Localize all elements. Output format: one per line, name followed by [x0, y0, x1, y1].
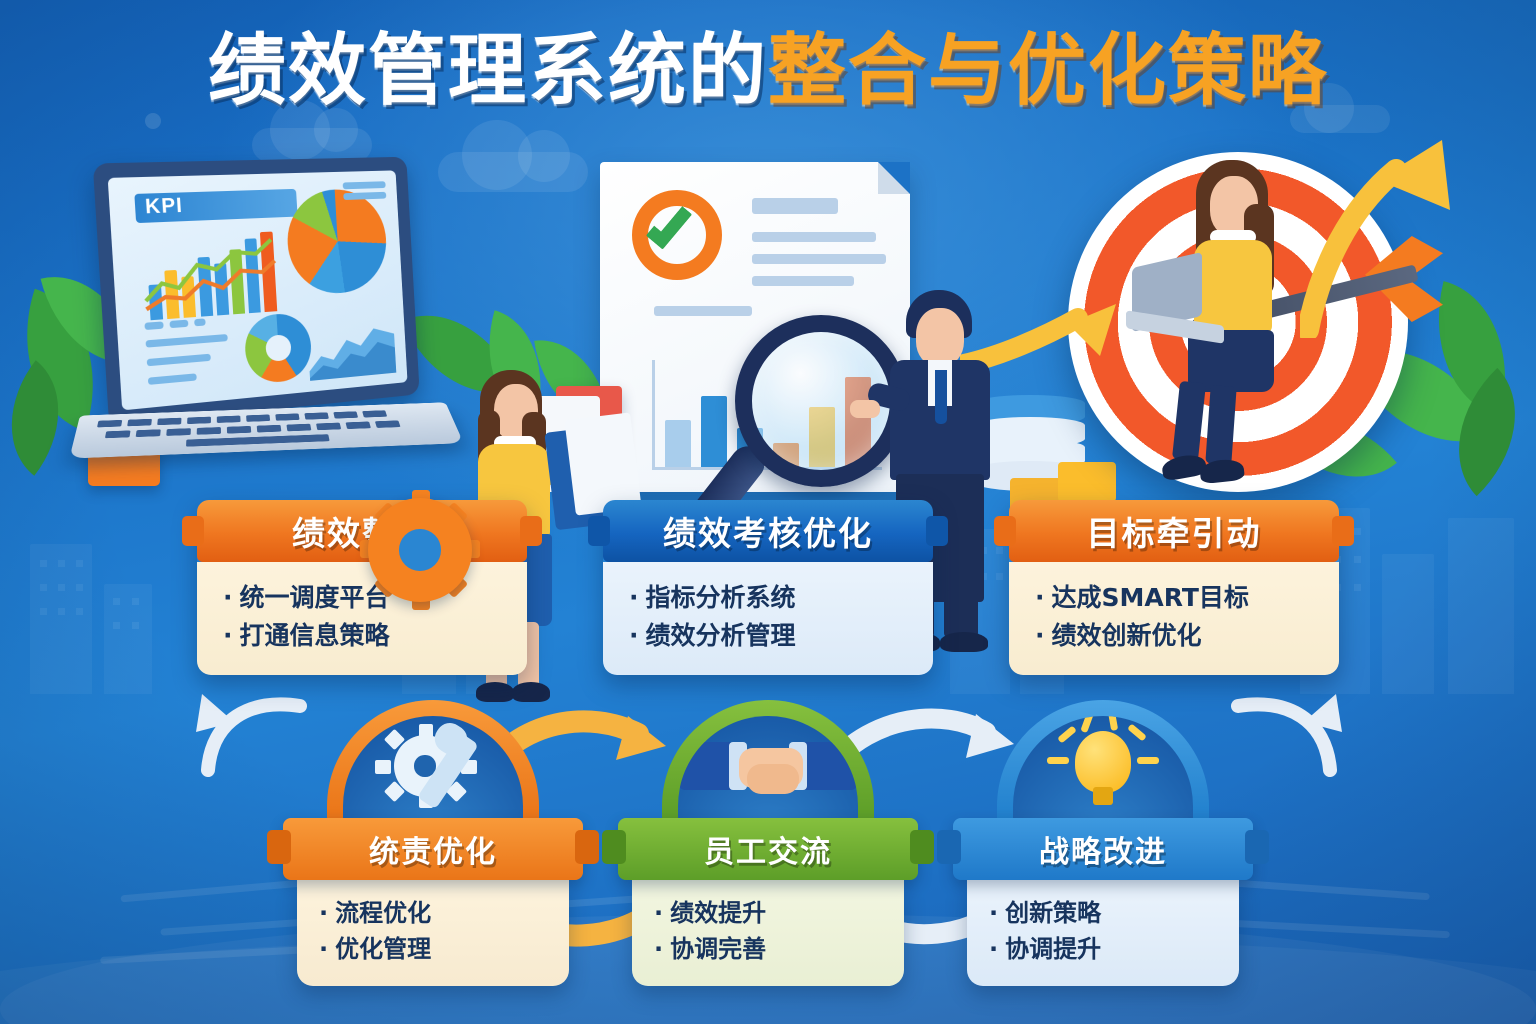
title-white-text: 绩效管理系统的	[208, 26, 768, 116]
area-chart-icon	[307, 315, 397, 380]
bcard-employee-communication[interactable]: 员工交流 ·绩效提升 ·协调完善	[618, 700, 918, 986]
gear-decoration-icon	[368, 498, 472, 602]
donut-chart-icon	[244, 312, 313, 385]
card-arch	[327, 700, 539, 818]
woman-laptop-on-target-icon	[1168, 160, 1318, 430]
page-title: 绩效管理系统的整合与优化策略	[0, 30, 1536, 113]
bcard-bullet: ·流程优化	[319, 895, 559, 931]
bullet-text: 优化管理	[335, 935, 431, 963]
bcard-title: 统责优化	[369, 827, 497, 871]
bcard-bullet: ·绩效提升	[654, 895, 894, 931]
card-goal-alignment[interactable]: 目标牵引动 ·达成SMART目标 ·绩效创新优化	[1009, 500, 1339, 675]
bcard-title: 员工交流	[704, 827, 832, 871]
top-cards-row: 绩效整合 ·统一调度平台 ·打通信息策略 绩效考核优化 ·指标分析系统 ·绩效分…	[0, 500, 1536, 675]
bcard-process-optimization[interactable]: 统责优化 ·流程优化 ·优化管理	[283, 700, 583, 986]
bullet-dot-icon: ·	[654, 935, 663, 963]
bullet-dot-icon: ·	[223, 621, 233, 650]
bullet-text: 创新策略	[1005, 899, 1101, 927]
card-title: 绩效考核优化	[663, 507, 873, 555]
bullet-dot-icon: ·	[223, 583, 233, 612]
bcard-body: ·创新策略 ·协调提升	[967, 880, 1239, 986]
bullet-text: 协调提升	[1005, 935, 1101, 963]
bullet-text: 统一调度平台	[240, 583, 390, 612]
bullet-dot-icon: ·	[319, 899, 328, 927]
bullet-text: 绩效提升	[670, 899, 766, 927]
bcard-bullet: ·协调完善	[654, 931, 894, 967]
card-body: ·指标分析系统 ·绩效分析管理	[603, 562, 933, 675]
bcard-title-band: 战略改进	[953, 818, 1253, 880]
bullet-dot-icon: ·	[989, 935, 998, 963]
bullet-dot-icon: ·	[319, 935, 328, 963]
bcard-body: ·流程优化 ·优化管理	[297, 880, 569, 986]
pie-chart-icon	[285, 188, 389, 296]
bullet-text: 流程优化	[335, 899, 431, 927]
bullet-text: 打通信息策略	[240, 621, 390, 650]
bcard-bullet: ·创新策略	[989, 895, 1229, 931]
lightbulb-icon	[1013, 716, 1193, 818]
bullet-dot-icon: ·	[989, 899, 998, 927]
bullet-dot-icon: ·	[629, 583, 639, 612]
bullet-dot-icon: ·	[1035, 583, 1045, 612]
bcard-title-band: 员工交流	[618, 818, 918, 880]
card-body: ·达成SMART目标 ·绩效创新优化	[1009, 562, 1339, 675]
card-bullet: ·指标分析系统	[629, 579, 919, 617]
bullet-text: 协调完善	[670, 935, 766, 963]
card-body: ·统一调度平台 ·打通信息策略	[197, 562, 527, 675]
bcard-title: 战略改进	[1039, 827, 1167, 871]
bcard-title-band: 统责优化	[283, 818, 583, 880]
bullet-text: 达成SMART目标	[1052, 583, 1249, 612]
growth-arrow-up-icon	[1300, 118, 1450, 338]
card-header: 目标牵引动	[1009, 500, 1339, 562]
bullet-dot-icon: ·	[654, 899, 663, 927]
title-orange-text: 整合与优化策略	[768, 26, 1328, 116]
card-bullet: ·达成SMART目标	[1035, 579, 1325, 617]
card-arch	[997, 700, 1209, 818]
bottom-cards-row: 统责优化 ·流程优化 ·优化管理	[0, 700, 1536, 986]
bcard-bullet: ·协调提升	[989, 931, 1229, 967]
card-bullet: ·打通信息策略	[223, 617, 513, 655]
card-header: 绩效考核优化	[603, 500, 933, 562]
card-assessment-optimization[interactable]: 绩效考核优化 ·指标分析系统 ·绩效分析管理	[603, 500, 933, 675]
bcard-bullet: ·优化管理	[319, 931, 559, 967]
card-performance-integration[interactable]: 绩效整合 ·统一调度平台 ·打通信息策略	[197, 500, 527, 675]
bullet-dot-icon: ·	[1035, 621, 1045, 650]
kpi-label: KPI	[134, 188, 298, 223]
bcard-body: ·绩效提升 ·协调完善	[632, 880, 904, 986]
bullet-dot-icon: ·	[629, 621, 639, 650]
puzzle-piece-icon	[1058, 462, 1116, 502]
card-arch	[662, 700, 874, 818]
handshake-icon	[678, 716, 858, 818]
card-title: 目标牵引动	[1087, 507, 1262, 555]
bcard-strategy-innovation[interactable]: 战略改进 ·创新策略 ·协调提升	[953, 700, 1253, 986]
bullet-text: 指标分析系统	[646, 583, 796, 612]
bullet-text: 绩效创新优化	[1052, 621, 1202, 650]
bullet-text: 绩效分析管理	[646, 621, 796, 650]
card-bullet: ·绩效分析管理	[629, 617, 919, 655]
card-bullet: ·绩效创新优化	[1035, 617, 1325, 655]
gear-wrench-icon	[343, 716, 523, 818]
laptop-dashboard-icon: KPI	[95, 160, 440, 460]
